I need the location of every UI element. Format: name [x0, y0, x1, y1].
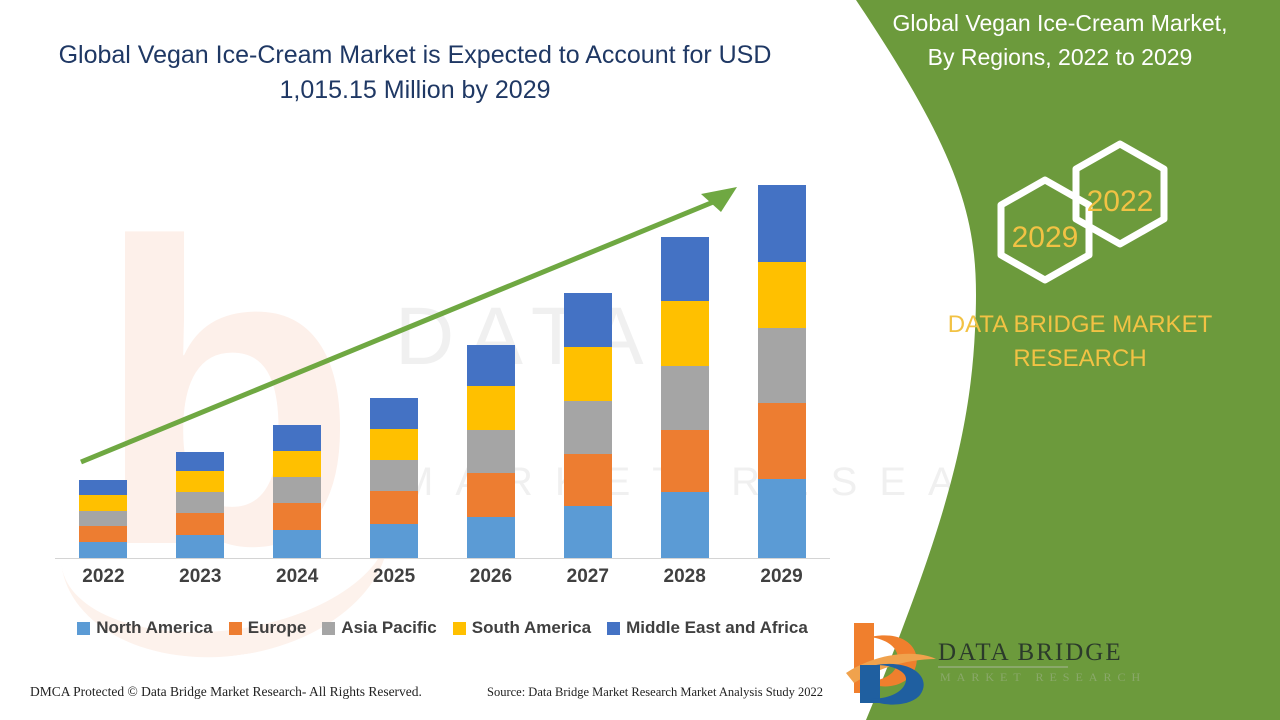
- legend-swatch-icon: [77, 622, 90, 635]
- hex-label-2029: 2029: [1012, 221, 1079, 254]
- footer-copyright: DMCA Protected © Data Bridge Market Rese…: [30, 684, 422, 700]
- logo-title: DATA BRIDGE: [938, 639, 1123, 667]
- bar-segment: [661, 430, 709, 492]
- bar-2029: [758, 185, 806, 558]
- x-axis-label-2022: 2022: [58, 566, 148, 588]
- legend-label: Europe: [248, 618, 307, 638]
- company-logo: DATA BRIDGE MARKET RESEARCH: [840, 615, 1100, 710]
- bar-segment: [273, 425, 321, 451]
- bar-segment: [370, 460, 418, 491]
- x-axis-label-2027: 2027: [543, 566, 633, 588]
- bar-segment: [176, 452, 224, 471]
- bar-segment: [467, 473, 515, 517]
- legend-label: Asia Pacific: [341, 618, 436, 638]
- bar-2028: [661, 237, 709, 558]
- bar-segment: [564, 506, 612, 558]
- chart-legend: North AmericaEuropeAsia PacificSouth Ame…: [55, 615, 830, 641]
- x-axis-label-2023: 2023: [155, 566, 245, 588]
- bar-2022: [79, 480, 127, 558]
- bar-segment: [79, 480, 127, 495]
- bar-segment: [758, 185, 806, 262]
- legend-swatch-icon: [229, 622, 242, 635]
- bar-segment: [758, 403, 806, 479]
- bar-segment: [467, 345, 515, 386]
- bar-segment: [176, 535, 224, 558]
- bar-2023: [176, 452, 224, 558]
- legend-label: Middle East and Africa: [626, 618, 808, 638]
- bar-segment: [758, 328, 806, 403]
- bar-segment: [370, 398, 418, 429]
- year-hexagons: 2022 2029: [940, 140, 1260, 290]
- bar-segment: [661, 301, 709, 366]
- bar-segment: [564, 347, 612, 401]
- legend-label: South America: [472, 618, 591, 638]
- bar-segment: [370, 491, 418, 524]
- bar-segment: [176, 471, 224, 492]
- bar-segment: [370, 429, 418, 460]
- legend-swatch-icon: [322, 622, 335, 635]
- bar-segment: [564, 293, 612, 347]
- bar-segment: [79, 526, 127, 542]
- brand-name: DATA BRIDGE MARKET RESEARCH: [880, 308, 1280, 376]
- bar-segment: [758, 479, 806, 558]
- legend-swatch-icon: [453, 622, 466, 635]
- x-axis-label-2025: 2025: [349, 566, 439, 588]
- x-axis-label-2026: 2026: [446, 566, 536, 588]
- footer-source: Source: Data Bridge Market Research Mark…: [487, 685, 823, 700]
- bar-segment: [467, 386, 515, 430]
- bar-segment: [467, 517, 515, 558]
- legend-item-south-america[interactable]: South America: [453, 618, 591, 638]
- bar-segment: [79, 542, 127, 558]
- x-axis-label-2028: 2028: [640, 566, 730, 588]
- infographic-canvas: b DATA MARKET RESEARCH Global Vegan Ice-…: [0, 0, 1280, 720]
- bar-segment: [79, 495, 127, 511]
- bar-segment: [467, 430, 515, 473]
- bar-segment: [273, 503, 321, 530]
- legend-item-europe[interactable]: Europe: [229, 618, 307, 638]
- legend-item-north-america[interactable]: North America: [77, 618, 213, 638]
- bar-segment: [176, 492, 224, 513]
- bar-segment: [661, 237, 709, 301]
- x-axis-line: [55, 558, 830, 559]
- bar-segment: [661, 366, 709, 430]
- bar-2027: [564, 293, 612, 558]
- chart-title: Global Vegan Ice-Cream Market is Expecte…: [55, 38, 775, 108]
- hexagon-shapes-icon: 2022 2029: [940, 140, 1260, 290]
- bar-2024: [273, 425, 321, 558]
- bar-segment: [273, 477, 321, 503]
- panel-title: Global Vegan Ice-Cream Market,By Regions…: [850, 6, 1270, 74]
- bar-2026: [467, 345, 515, 558]
- brand-panel: Global Vegan Ice-Cream Market,By Regions…: [820, 0, 1280, 720]
- legend-item-asia-pacific[interactable]: Asia Pacific: [322, 618, 436, 638]
- legend-label: North America: [96, 618, 213, 638]
- bar-segment: [564, 454, 612, 506]
- legend-item-middle-east-and-africa[interactable]: Middle East and Africa: [607, 618, 808, 638]
- bar-segment: [273, 451, 321, 477]
- hex-label-2022: 2022: [1087, 185, 1154, 218]
- bar-segment: [564, 401, 612, 454]
- logo-subtitle: MARKET RESEARCH: [940, 670, 1146, 685]
- bar-segment: [661, 492, 709, 558]
- bar-segment: [758, 262, 806, 328]
- x-axis-label-2029: 2029: [737, 566, 827, 588]
- bar-segment: [79, 511, 127, 526]
- bar-segment: [273, 530, 321, 558]
- legend-swatch-icon: [607, 622, 620, 635]
- bar-segment: [176, 513, 224, 535]
- bar-2025: [370, 398, 418, 558]
- x-axis-labels: 20222023202420252026202720282029: [55, 566, 830, 596]
- stacked-bar-chart: [55, 150, 830, 558]
- x-axis-label-2024: 2024: [252, 566, 342, 588]
- bar-segment: [370, 524, 418, 558]
